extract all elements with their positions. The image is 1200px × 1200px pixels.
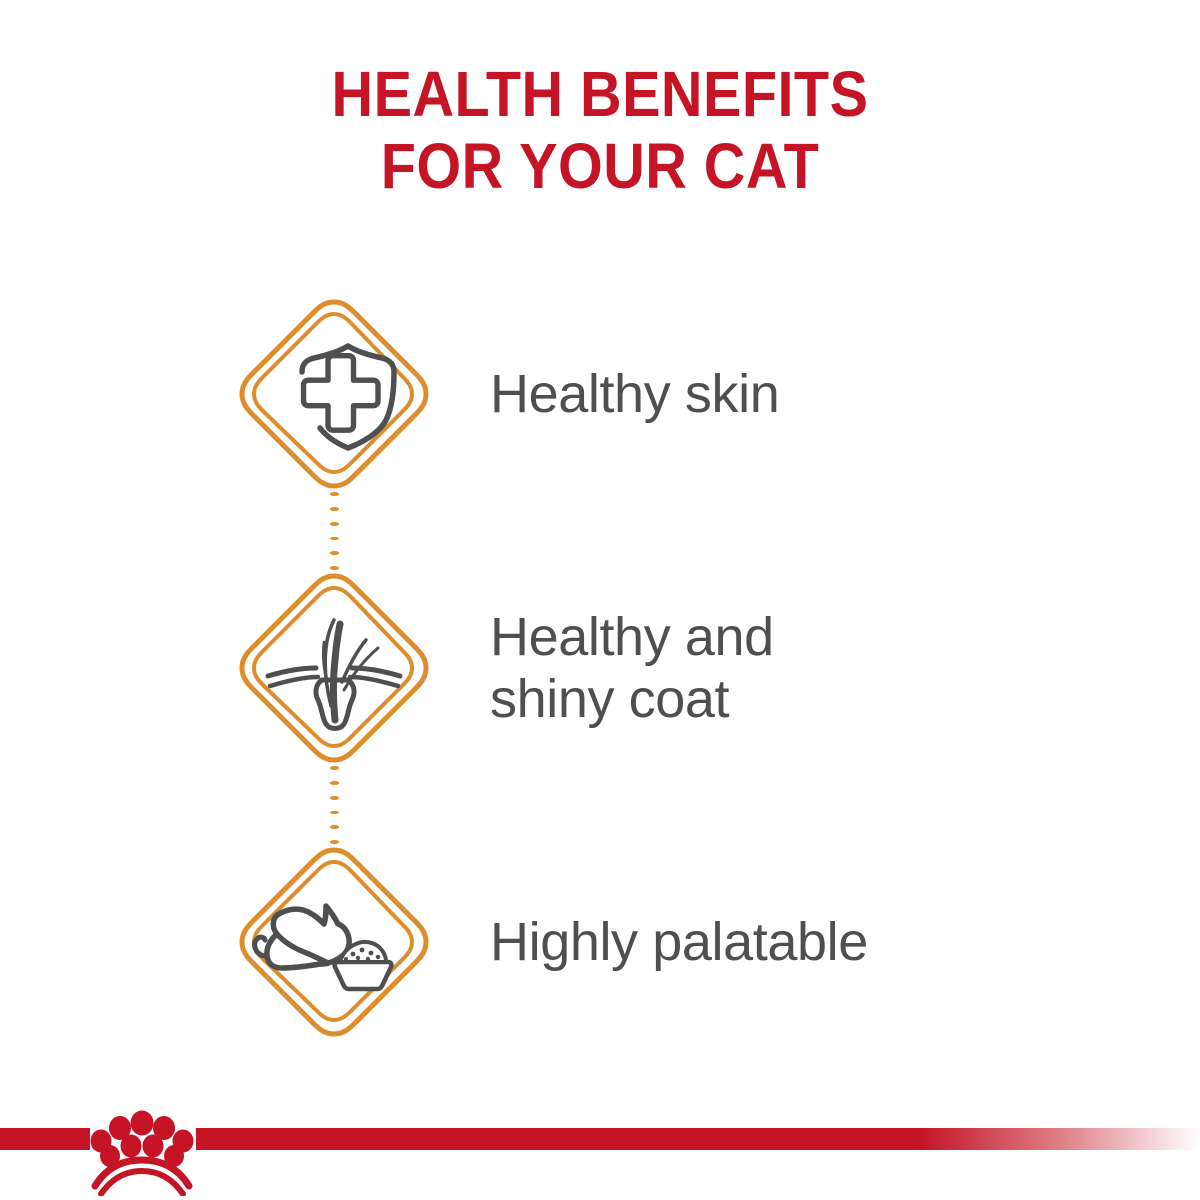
cat-eating-bowl-icon [236, 844, 432, 1040]
connector-dot [330, 492, 339, 496]
footer-bar-left [0, 1128, 90, 1150]
page-title: HEALTH BENEFITS FOR YOUR CAT [0, 58, 1200, 202]
benefit-label-line-1: Highly palatable [490, 911, 868, 973]
benefit-label-healthy-shiny-coat: Healthy and shiny coat [490, 606, 774, 730]
connector-dot [330, 811, 339, 815]
benefit-label-line-1: Healthy and [490, 606, 774, 668]
benefit-item-highly-palatable: Highly palatable [0, 844, 1200, 1040]
connector-dot [330, 522, 339, 526]
connector-dot [330, 781, 339, 785]
connector-dots-1 [236, 492, 432, 570]
benefits-list: Healthy skin [0, 296, 1200, 1040]
page-root: HEALTH BENEFITS FOR YOUR CAT Healthy ski [0, 0, 1200, 1200]
connector-dot [330, 507, 339, 511]
shield-plus-icon [236, 296, 432, 492]
page-title-line-1: HEALTH BENEFITS [60, 58, 1140, 130]
benefit-item-healthy-shiny-coat: Healthy and shiny coat [0, 570, 1200, 766]
benefit-item-healthy-skin: Healthy skin [0, 296, 1200, 492]
benefit-label-highly-palatable: Highly palatable [490, 911, 868, 973]
connector-dot [330, 551, 339, 555]
connector-dot [330, 537, 339, 541]
benefit-label-line-2: shiny coat [490, 668, 774, 730]
benefit-label-line-1: Healthy skin [490, 363, 779, 425]
benefit-label-healthy-skin: Healthy skin [490, 363, 779, 425]
connector-dot [330, 825, 339, 829]
connector-dot [330, 796, 339, 800]
connector-dots-2 [236, 766, 432, 844]
footer-bar-right [196, 1128, 1200, 1150]
hair-follicle-icon [236, 570, 432, 766]
royal-canin-crown-logo [82, 1098, 202, 1196]
page-title-line-2: FOR YOUR CAT [60, 130, 1140, 202]
connector-dot [330, 766, 339, 770]
footer [0, 1090, 1200, 1200]
